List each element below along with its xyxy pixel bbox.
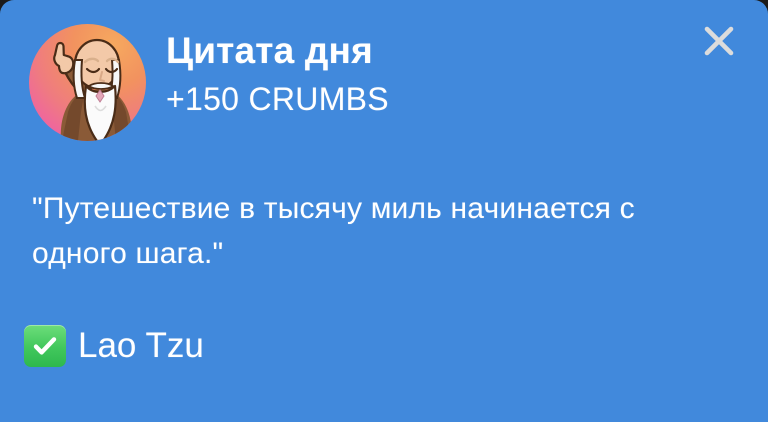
notification-header: Цитата дня +150 CRUMBS (0, 0, 768, 160)
reward-amount-label: +150 CRUMBS (166, 81, 666, 119)
author-attribution: Lao Tzu (24, 325, 204, 367)
quote-line: "Путешествие в тысячу миль начинается с (32, 186, 732, 231)
author-name: Lao Tzu (78, 327, 204, 366)
page-title: Цитата дня (166, 30, 666, 73)
sage-avatar-icon (29, 24, 146, 141)
verified-check-icon (24, 325, 66, 367)
quote-of-the-day-notification: Цитата дня +150 CRUMBS "Путешествие в ты… (0, 0, 768, 422)
close-icon[interactable] (696, 18, 742, 64)
quote-line: одного шага." (32, 231, 732, 276)
header-text-block: Цитата дня +150 CRUMBS (166, 30, 666, 119)
quote-text: "Путешествие в тысячу миль начинается с … (32, 186, 732, 276)
